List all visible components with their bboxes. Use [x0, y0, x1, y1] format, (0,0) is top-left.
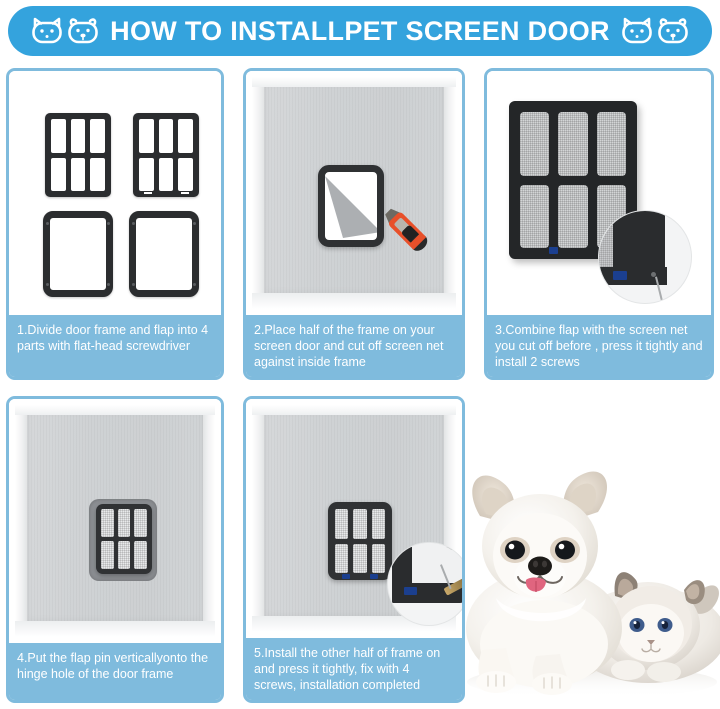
- net-closeup: [599, 217, 613, 273]
- step-2-caption: 2.Place half of the frame on your screen…: [246, 315, 462, 377]
- step-card-3: 3.Combine flap with the screen net you c…: [484, 68, 714, 380]
- flap-pane: [134, 541, 147, 569]
- flap-pane: [101, 541, 114, 569]
- door-rail-top: [252, 77, 456, 87]
- net-pane: [353, 544, 366, 574]
- page-title: HOW TO INSTALLPET SCREEN DOOR: [110, 16, 610, 47]
- blue-screw: [370, 574, 378, 579]
- step-1-illustration: [9, 71, 221, 315]
- screw-hole: [132, 222, 135, 225]
- screw-hole: [46, 283, 49, 286]
- screw-hole: [193, 222, 196, 225]
- flap-pane: [139, 119, 154, 153]
- net-pane: [558, 185, 587, 249]
- flap-pane: [90, 158, 105, 192]
- header-left-pet-icons: [30, 17, 100, 45]
- flap-pane: [178, 119, 193, 153]
- screen-door-scene: [9, 399, 221, 643]
- step-2-illustration: [246, 71, 462, 315]
- page-header-banner: HOW TO INSTALLPET SCREEN DOOR: [8, 6, 712, 56]
- door-rail-top: [252, 405, 456, 415]
- flap-hinge-tab: [180, 191, 190, 195]
- magnified-corner-detail: [388, 543, 462, 625]
- step-card-4: 4.Put the flap pin verticallyonto the hi…: [6, 396, 224, 703]
- flap-pane: [90, 119, 105, 153]
- door-parts-group: [9, 71, 221, 315]
- infographic-page: HOW TO INSTALLPET SCREEN DOOR: [0, 0, 720, 709]
- dog-eye: [505, 541, 525, 560]
- flap-grid-piece-a: [45, 113, 111, 197]
- door-rail-bottom: [15, 621, 215, 637]
- flap-grid-piece-b: [133, 113, 199, 197]
- flap-pane: [178, 158, 193, 192]
- step-1-caption: 1.Divide door frame and flap into 4 part…: [9, 315, 221, 377]
- blue-pin: [549, 247, 558, 254]
- flap-pane: [71, 158, 86, 192]
- step-4-illustration: [9, 399, 221, 643]
- flap-pane: [118, 541, 131, 569]
- installed-flap: [96, 504, 152, 574]
- screen-door-scene: [246, 71, 462, 315]
- flap-pane: [159, 119, 174, 153]
- dog-face-icon: [656, 17, 690, 45]
- net-pane: [520, 185, 549, 249]
- door-frame-piece-a: [43, 211, 113, 297]
- blue-screw: [342, 574, 350, 579]
- dog-eye: [555, 541, 575, 560]
- door-rail-left: [252, 405, 264, 632]
- screw-hole: [193, 283, 196, 286]
- net-pane: [372, 544, 385, 574]
- net-pane: [558, 112, 587, 176]
- screw-hole: [107, 222, 110, 225]
- door-rail-right: [203, 405, 215, 637]
- flap-hinge-tab: [143, 191, 153, 195]
- door-rail-top: [15, 405, 215, 415]
- cat-face-icon: [30, 17, 64, 45]
- installed-flap-complete: [328, 502, 392, 580]
- step-card-1: 1.Divide door frame and flap into 4 part…: [6, 68, 224, 380]
- door-rail-left: [252, 77, 264, 309]
- screen-door-scene: [246, 399, 462, 638]
- blue-screw-closeup: [404, 587, 417, 595]
- door-frame-piece-b: [129, 211, 199, 297]
- flap-pane: [51, 119, 66, 153]
- cat-face-icon: [620, 17, 654, 45]
- screw-hole: [46, 222, 49, 225]
- utility-knife-icon: [374, 199, 436, 261]
- net-pane: [372, 509, 385, 539]
- flap-pane: [71, 119, 86, 153]
- step-4-caption: 4.Put the flap pin verticallyonto the hi…: [9, 643, 221, 700]
- flap-pane: [134, 509, 147, 537]
- cut-net-wedge: [325, 172, 381, 244]
- step-card-2: 2.Place half of the frame on your screen…: [243, 68, 465, 380]
- step-3-illustration: [487, 71, 711, 315]
- flap-pane: [101, 509, 114, 537]
- flap-pane: [118, 509, 131, 537]
- step-3-caption: 3.Combine flap with the screen net you c…: [487, 315, 711, 377]
- net-pane: [335, 544, 348, 574]
- door-rail-left: [15, 405, 27, 637]
- chihuahua-dog-and-kitten-photo: [452, 420, 720, 709]
- step-card-5: 5.Install the other half of frame on and…: [243, 396, 465, 703]
- flap-pane: [139, 158, 154, 192]
- step-5-caption: 5.Install the other half of frame on and…: [246, 638, 462, 700]
- flap-pane: [159, 158, 174, 192]
- header-right-pet-icons: [620, 17, 690, 45]
- screw-hole: [107, 283, 110, 286]
- chihuahua-dog: [466, 472, 622, 696]
- flap-pane: [51, 158, 66, 192]
- net-pane: [597, 112, 626, 176]
- step-5-illustration: [246, 399, 462, 638]
- screw-hole: [132, 283, 135, 286]
- magnified-screw-detail: [599, 211, 691, 303]
- net-pane: [335, 509, 348, 539]
- net-pane: [520, 112, 549, 176]
- dog-nose: [528, 557, 552, 576]
- dog-face-icon: [66, 17, 100, 45]
- net-pane: [353, 509, 366, 539]
- door-rail-right: [444, 77, 456, 309]
- blue-screw-closeup: [613, 271, 627, 280]
- door-rail-bottom: [252, 293, 456, 309]
